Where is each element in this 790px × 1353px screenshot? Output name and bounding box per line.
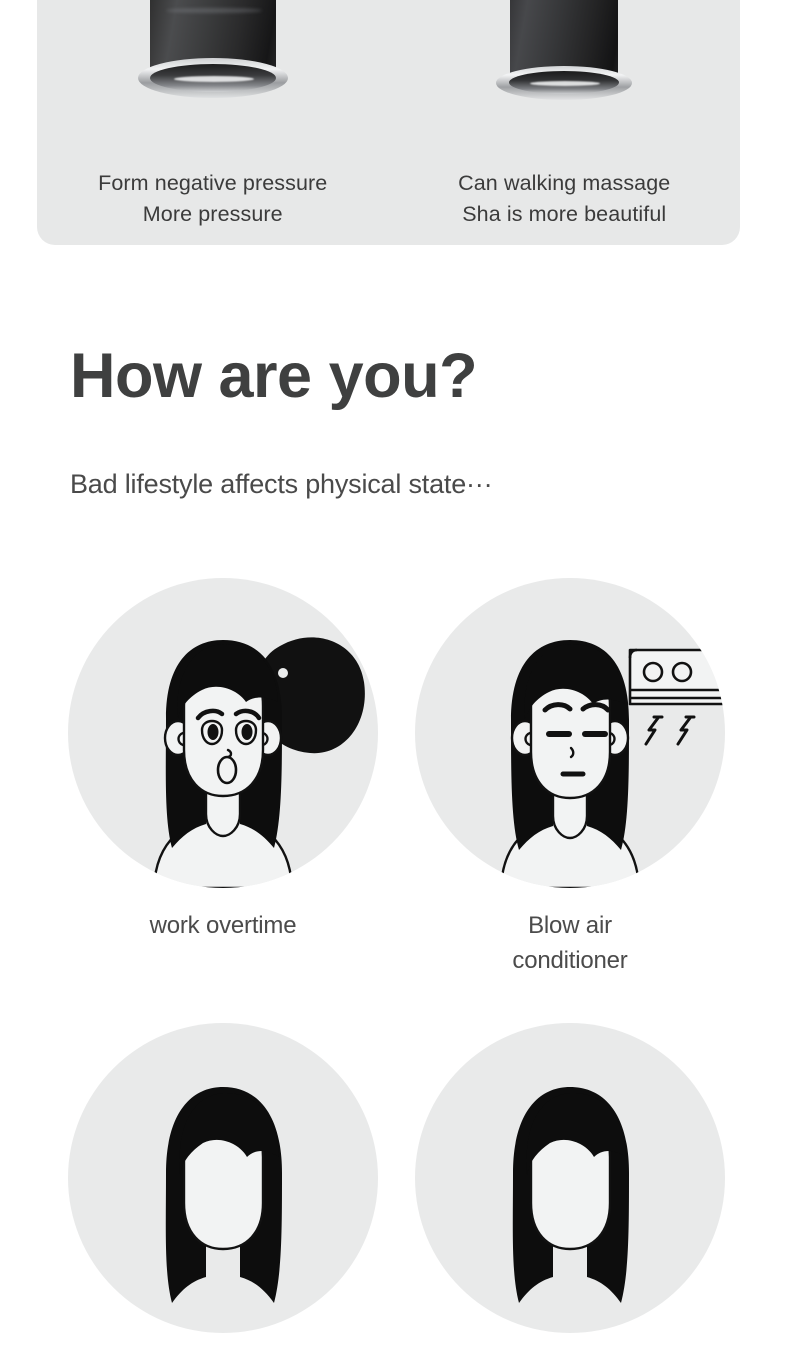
product-feature-caption-1: Form negative pressure More pressure bbox=[37, 168, 389, 230]
symptom-label-2: Blow air conditioner bbox=[415, 908, 725, 978]
symptom-item-3-partial bbox=[68, 1023, 378, 1353]
product-feature-card: Form negative pressure More pressure Can… bbox=[37, 0, 740, 245]
symptom-label-line-1: work overtime bbox=[150, 912, 297, 939]
caption-line-1: Form negative pressure bbox=[98, 171, 327, 195]
woman-partial-icon bbox=[68, 1023, 378, 1333]
product-feature-item-1: Form negative pressure More pressure bbox=[37, 0, 389, 245]
product-feature-caption-2: Can walking massage Sha is more beautifu… bbox=[389, 168, 741, 230]
symptom-item-work-overtime: work overtime bbox=[68, 578, 378, 943]
woman-yawning-night-moon-icon bbox=[68, 578, 378, 888]
cupping-cup-wide-icon bbox=[37, 0, 389, 130]
woman-cold-air-conditioner-icon bbox=[415, 578, 725, 888]
symptom-label-line-1: Blow air bbox=[528, 912, 612, 939]
product-feature-item-2: Can walking massage Sha is more beautifu… bbox=[389, 0, 741, 245]
section-subheadline: Bad lifestyle affects physical state··· bbox=[70, 465, 492, 503]
caption-line-1: Can walking massage bbox=[458, 171, 670, 195]
symptom-label-line-2: conditioner bbox=[415, 943, 725, 978]
product-feature-grid: Form negative pressure More pressure Can… bbox=[37, 0, 740, 245]
cupping-cup-tall-icon bbox=[389, 0, 741, 130]
caption-line-2: Sha is more beautiful bbox=[389, 199, 741, 230]
caption-line-2: More pressure bbox=[37, 199, 389, 230]
symptom-item-air-conditioner: Blow air conditioner bbox=[415, 578, 725, 978]
symptom-item-4-partial bbox=[415, 1023, 725, 1353]
section-headline: How are you? bbox=[70, 336, 477, 416]
symptom-label-1: work overtime bbox=[68, 908, 378, 943]
woman-partial-icon bbox=[415, 1023, 725, 1333]
